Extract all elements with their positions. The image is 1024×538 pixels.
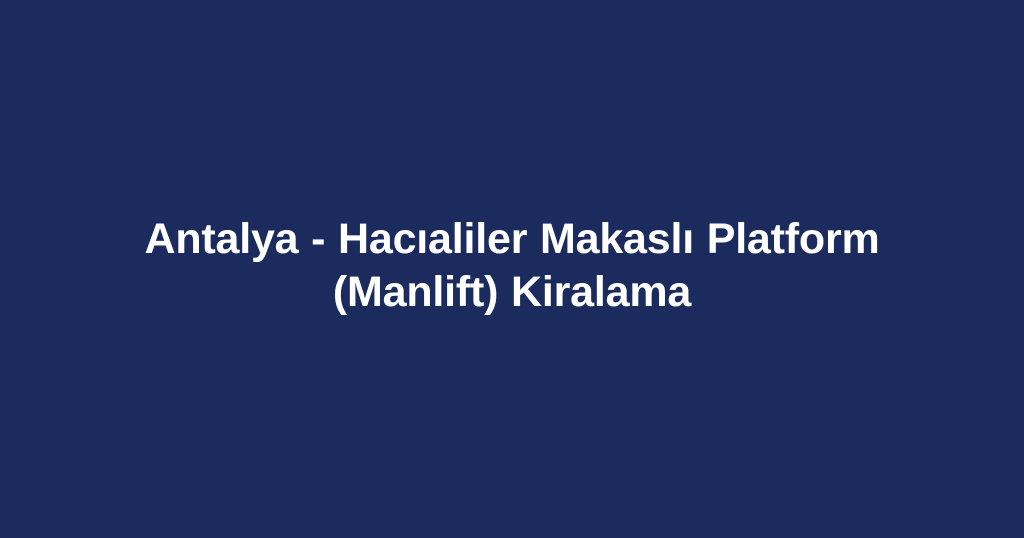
share-card-banner: Antalya - Hacıaliler Makaslı Platform (M… [0,0,1024,538]
page-title-line-2: (Manlift) Kiralama [72,266,952,319]
page-title: Antalya - Hacıaliler Makaslı Platform (M… [72,213,952,319]
page-title-line-1: Antalya - Hacıaliler Makaslı Platform [72,213,952,266]
headline-block: Antalya - Hacıaliler Makaslı Platform (M… [72,213,952,325]
